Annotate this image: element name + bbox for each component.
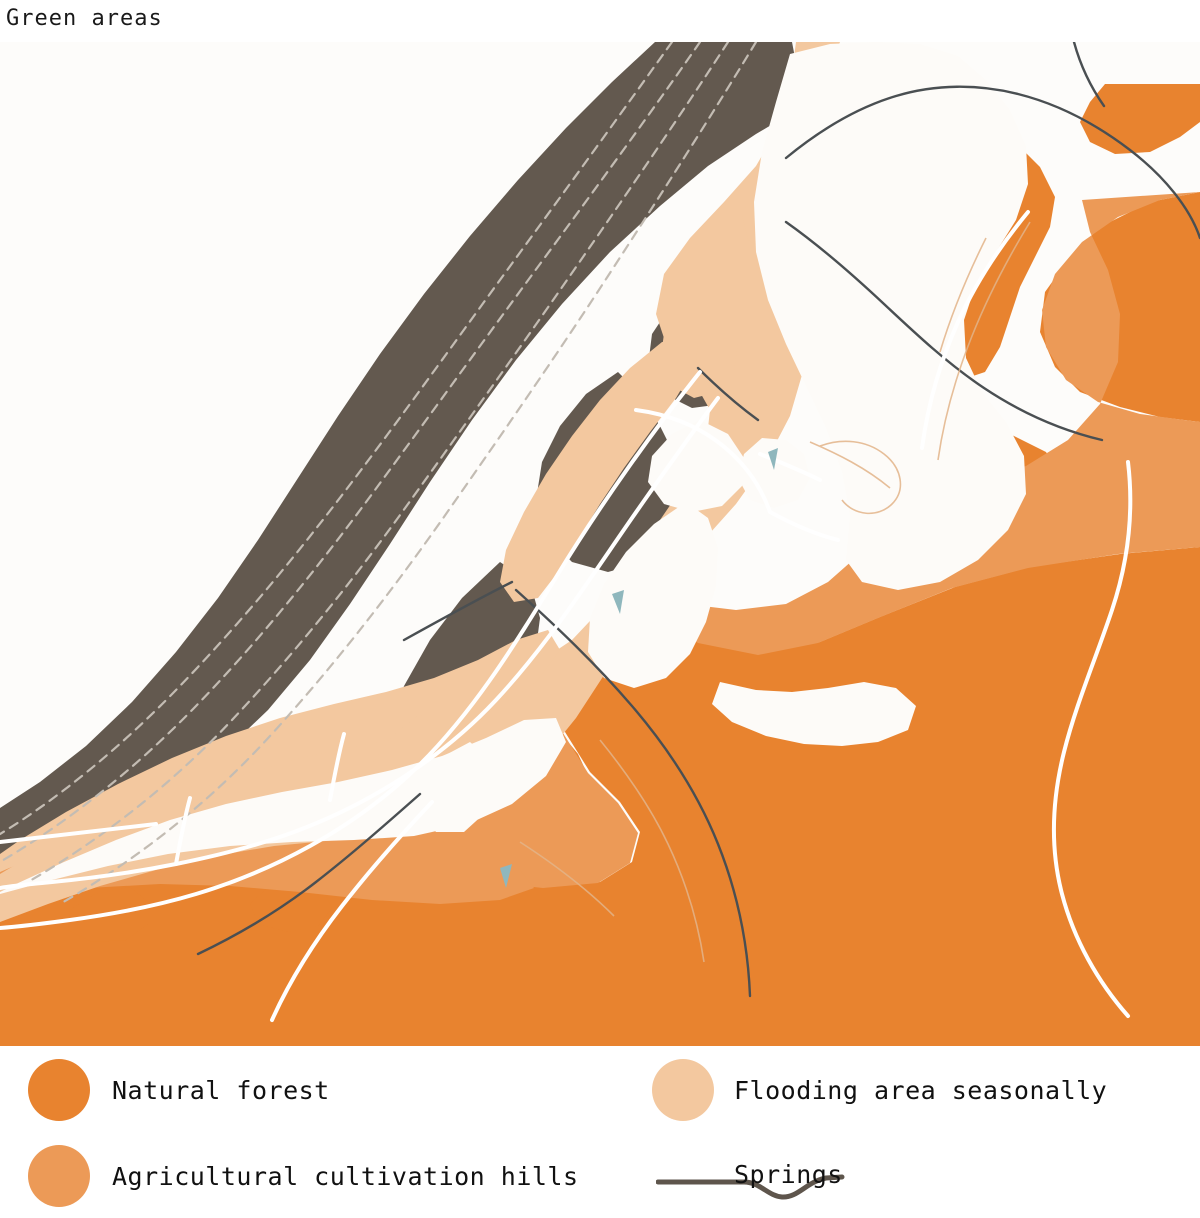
- map-svg[interactable]: [0, 42, 1200, 1046]
- legend-label-flooding-area: Flooding area seasonally: [734, 1076, 1107, 1105]
- legend-column-right: Flooding area seasonally Springs: [600, 1046, 1200, 1218]
- legend-swatch-flooding-area: [652, 1059, 714, 1121]
- legend: Natural forest Agricultural cultivation …: [0, 1046, 1200, 1218]
- legend-column-left: Natural forest Agricultural cultivation …: [0, 1046, 600, 1218]
- map-canvas[interactable]: [0, 42, 1200, 1046]
- legend-swatch-agricultural-hills: [28, 1145, 90, 1207]
- legend-label-natural-forest: Natural forest: [112, 1076, 330, 1105]
- page-title: Green areas: [6, 6, 163, 31]
- legend-label-agricultural-hills: Agricultural cultivation hills: [112, 1162, 579, 1191]
- legend-entry-springs[interactable]: Springs: [600, 1132, 1200, 1218]
- legend-swatch-natural-forest: [28, 1059, 90, 1121]
- legend-entry-natural-forest[interactable]: Natural forest: [0, 1046, 600, 1132]
- legend-label-springs: Springs: [734, 1160, 843, 1189]
- legend-entry-agricultural-hills[interactable]: Agricultural cultivation hills: [0, 1132, 600, 1218]
- legend-entry-flooding-area[interactable]: Flooding area seasonally: [600, 1046, 1200, 1132]
